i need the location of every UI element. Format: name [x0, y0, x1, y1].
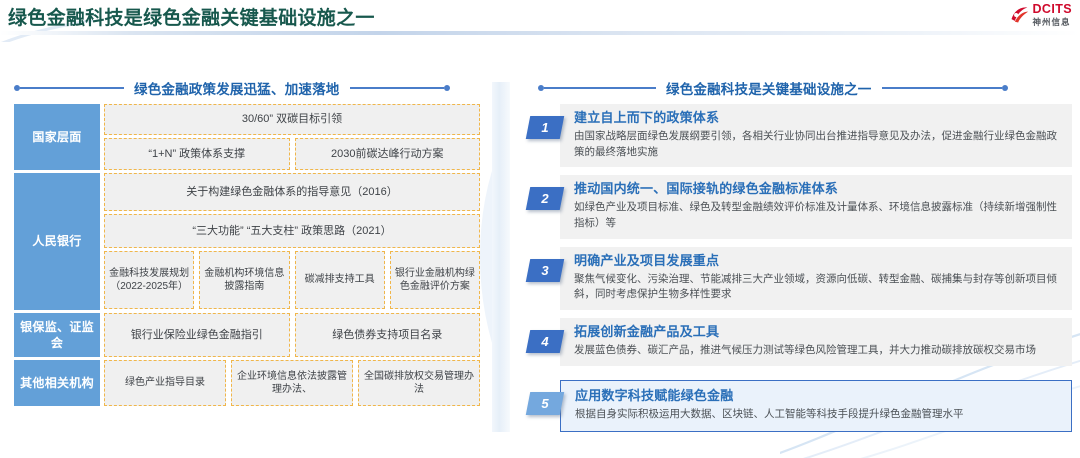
item-description: 由国家战略层面绿色发展纲要引领，各相关行业协同出台推进指导意见及办法，促进金融行…	[574, 129, 1062, 161]
matrix-row-label: 其他相关机构	[14, 360, 100, 406]
policy-cell[interactable]: 银行业金融机构绿色金融评价方案	[390, 251, 480, 309]
dcits-swoosh-icon	[1009, 5, 1029, 25]
left-panel-heading-text: 绿色金融政策发展迅猛、加速落地	[124, 78, 350, 98]
policy-cell[interactable]: 金融科技发展规划（2022-2025年）	[104, 251, 194, 309]
item-description: 聚焦气候变化、污染治理、节能减排三大产业领域，资源向低碳、转型金融、碳捕集与封存…	[574, 272, 1062, 304]
policy-cell[interactable]: 关于构建绿色金融体系的指导意见（2016）	[104, 173, 480, 211]
item-number-badge: 4	[528, 330, 562, 353]
matrix-row-label: 银保监、证监会	[14, 313, 100, 357]
slide-canvas: 绿色金融科技是绿色金融关键基础设施之一 DCITS 神州信息 绿色金融政策发展迅…	[0, 0, 1080, 458]
item-title: 建立自上而下的政策体系	[574, 110, 1062, 127]
policy-cell[interactable]: 金融机构环境信息披露指南	[199, 251, 289, 309]
list-item[interactable]: 1 建立自上而下的政策体系 由国家战略层面绿色发展纲要引领，各相关行业协同出台推…	[528, 104, 1072, 167]
matrix-sub-row: 绿色产业指导目录 企业环境信息依法披露管理办法、 全国碳排放权交易管理办法	[104, 360, 480, 406]
left-panel-heading: 绿色金融政策发展迅猛、加速落地	[14, 78, 480, 98]
matrix-row-cells: 绿色产业指导目录 企业环境信息依法披露管理办法、 全国碳排放权交易管理办法	[104, 360, 480, 406]
item-title: 推动国内统一、国际接轨的绿色金融标准体系	[574, 181, 1062, 198]
item-number: 1	[528, 116, 562, 139]
item-number: 4	[528, 330, 562, 353]
heading-line-left	[544, 87, 656, 89]
item-card: 明确产业及项目发展重点 聚焦气候变化、污染治理、节能减排三大产业领域，资源向低碳…	[560, 247, 1072, 310]
item-card: 推动国内统一、国际接轨的绿色金融标准体系 如绿色产业及项目标准、绿色及转型金融绩…	[560, 175, 1072, 238]
policy-cell[interactable]: “三大功能” “五大支柱” 政策思路（2021）	[104, 214, 480, 248]
policy-cell[interactable]: “1+N” 政策体系支撑	[104, 138, 290, 170]
policy-cell[interactable]: 企业环境信息依法披露管理办法、	[231, 360, 353, 406]
matrix-sub-row: “三大功能” “五大支柱” 政策思路（2021）	[104, 214, 480, 248]
right-panel-heading: 绿色金融科技是关键基础设施之一	[538, 78, 1066, 98]
item-description: 根据自身实际积极运用大数据、区块链、人工智能等科技手段提升绿色金融管理水平	[575, 407, 1061, 423]
item-number: 3	[528, 259, 562, 282]
item-title: 应用数字科技赋能绿色金融	[575, 388, 1061, 405]
logo-english-name: DCITS	[1033, 3, 1073, 16]
heading-dot-right	[1002, 85, 1008, 91]
item-number: 5	[528, 392, 562, 415]
policy-cell[interactable]: 银行业保险业绿色金融指引	[104, 313, 290, 357]
matrix-row-label: 人民银行	[14, 173, 100, 310]
policy-matrix: 国家层面 30/60” 双碳目标引领 “1+N” 政策体系支撑 2030前碳达峰…	[14, 104, 480, 432]
item-number-badge: 3	[528, 259, 562, 282]
page-title: 绿色金融科技是绿色金融关键基础设施之一	[8, 3, 375, 30]
matrix-sub-row: 银行业保险业绿色金融指引 绿色债券支持项目名录	[104, 313, 480, 357]
policy-cell[interactable]: 碳减排支持工具	[295, 251, 385, 309]
heading-dot-right	[444, 85, 450, 91]
heading-line-right	[350, 87, 444, 89]
matrix-sub-row: 30/60” 双碳目标引领	[104, 104, 480, 135]
list-item[interactable]: 2 推动国内统一、国际接轨的绿色金融标准体系 如绿色产业及项目标准、绿色及转型金…	[528, 175, 1072, 238]
heading-line-right	[882, 87, 1002, 89]
logo-wordmark: DCITS 神州信息	[1033, 3, 1073, 26]
matrix-row-cells: 30/60” 双碳目标引领 “1+N” 政策体系支撑 2030前碳达峰行动方案	[104, 104, 480, 170]
policy-cell[interactable]: 30/60” 双碳目标引领	[104, 104, 480, 135]
item-title: 拓展创新金融产品及工具	[574, 324, 1062, 341]
brand-logo: DCITS 神州信息	[1009, 3, 1073, 26]
item-number: 2	[528, 187, 562, 210]
matrix-row: 人民银行 关于构建绿色金融体系的指导意见（2016） “三大功能” “五大支柱”…	[14, 173, 480, 310]
matrix-row: 银保监、证监会 银行业保险业绿色金融指引 绿色债券支持项目名录	[14, 313, 480, 357]
matrix-row: 其他相关机构 绿色产业指导目录 企业环境信息依法披露管理办法、 全国碳排放权交易…	[14, 360, 480, 406]
matrix-sub-row: 金融科技发展规划（2022-2025年） 金融机构环境信息披露指南 碳减排支持工…	[104, 251, 480, 309]
item-number-badge: 1	[528, 116, 562, 139]
item-card: 拓展创新金融产品及工具 发展蓝色债券、碳汇产品，推进气候压力测试等绿色风险管理工…	[560, 318, 1072, 366]
matrix-sub-row: “1+N” 政策体系支撑 2030前碳达峰行动方案	[104, 138, 480, 170]
policy-cell[interactable]: 绿色产业指导目录	[104, 360, 226, 406]
item-card: 建立自上而下的政策体系 由国家战略层面绿色发展纲要引领，各相关行业协同出台推进指…	[560, 104, 1072, 167]
policy-cell[interactable]: 全国碳排放权交易管理办法	[358, 360, 480, 406]
item-number-badge: 2	[528, 187, 562, 210]
item-title: 明确产业及项目发展重点	[574, 253, 1062, 270]
item-description: 发展蓝色债券、碳汇产品，推进气候压力测试等绿色风险管理工具，并大力推动碳排放碳权…	[574, 343, 1062, 359]
policy-cell[interactable]: 2030前碳达峰行动方案	[295, 138, 481, 170]
matrix-row-cells: 关于构建绿色金融体系的指导意见（2016） “三大功能” “五大支柱” 政策思路…	[104, 173, 480, 310]
list-item-highlighted[interactable]: 5 应用数字科技赋能绿色金融 根据自身实际积极运用大数据、区块链、人工智能等科技…	[528, 380, 1072, 432]
policy-cell[interactable]: 绿色债券支持项目名录	[295, 313, 481, 357]
key-infrastructure-list: 1 建立自上而下的政策体系 由国家战略层面绿色发展纲要引领，各相关行业协同出台推…	[528, 104, 1072, 434]
item-card: 应用数字科技赋能绿色金融 根据自身实际积极运用大数据、区块链、人工智能等科技手段…	[560, 380, 1072, 432]
matrix-row-label: 国家层面	[14, 104, 100, 170]
item-number-badge: 5	[528, 392, 562, 415]
panel-divider	[492, 82, 510, 432]
slide-header: 绿色金融科技是绿色金融关键基础设施之一 DCITS 神州信息	[0, 0, 1080, 33]
matrix-row-cells: 银行业保险业绿色金融指引 绿色债券支持项目名录	[104, 313, 480, 357]
list-item[interactable]: 4 拓展创新金融产品及工具 发展蓝色债券、碳汇产品，推进气候压力测试等绿色风险管…	[528, 318, 1072, 372]
heading-line-left	[20, 87, 124, 89]
matrix-row: 国家层面 30/60” 双碳目标引领 “1+N” 政策体系支撑 2030前碳达峰…	[14, 104, 480, 170]
item-description: 如绿色产业及项目标准、绿色及转型金融绩效评价标准及计量体系、环境信息披露标准（持…	[574, 200, 1062, 232]
list-item[interactable]: 3 明确产业及项目发展重点 聚焦气候变化、污染治理、节能减排三大产业领域，资源向…	[528, 247, 1072, 310]
matrix-sub-row: 关于构建绿色金融体系的指导意见（2016）	[104, 173, 480, 211]
logo-chinese-name: 神州信息	[1033, 18, 1073, 27]
right-panel-heading-text: 绿色金融科技是关键基础设施之一	[656, 78, 882, 98]
